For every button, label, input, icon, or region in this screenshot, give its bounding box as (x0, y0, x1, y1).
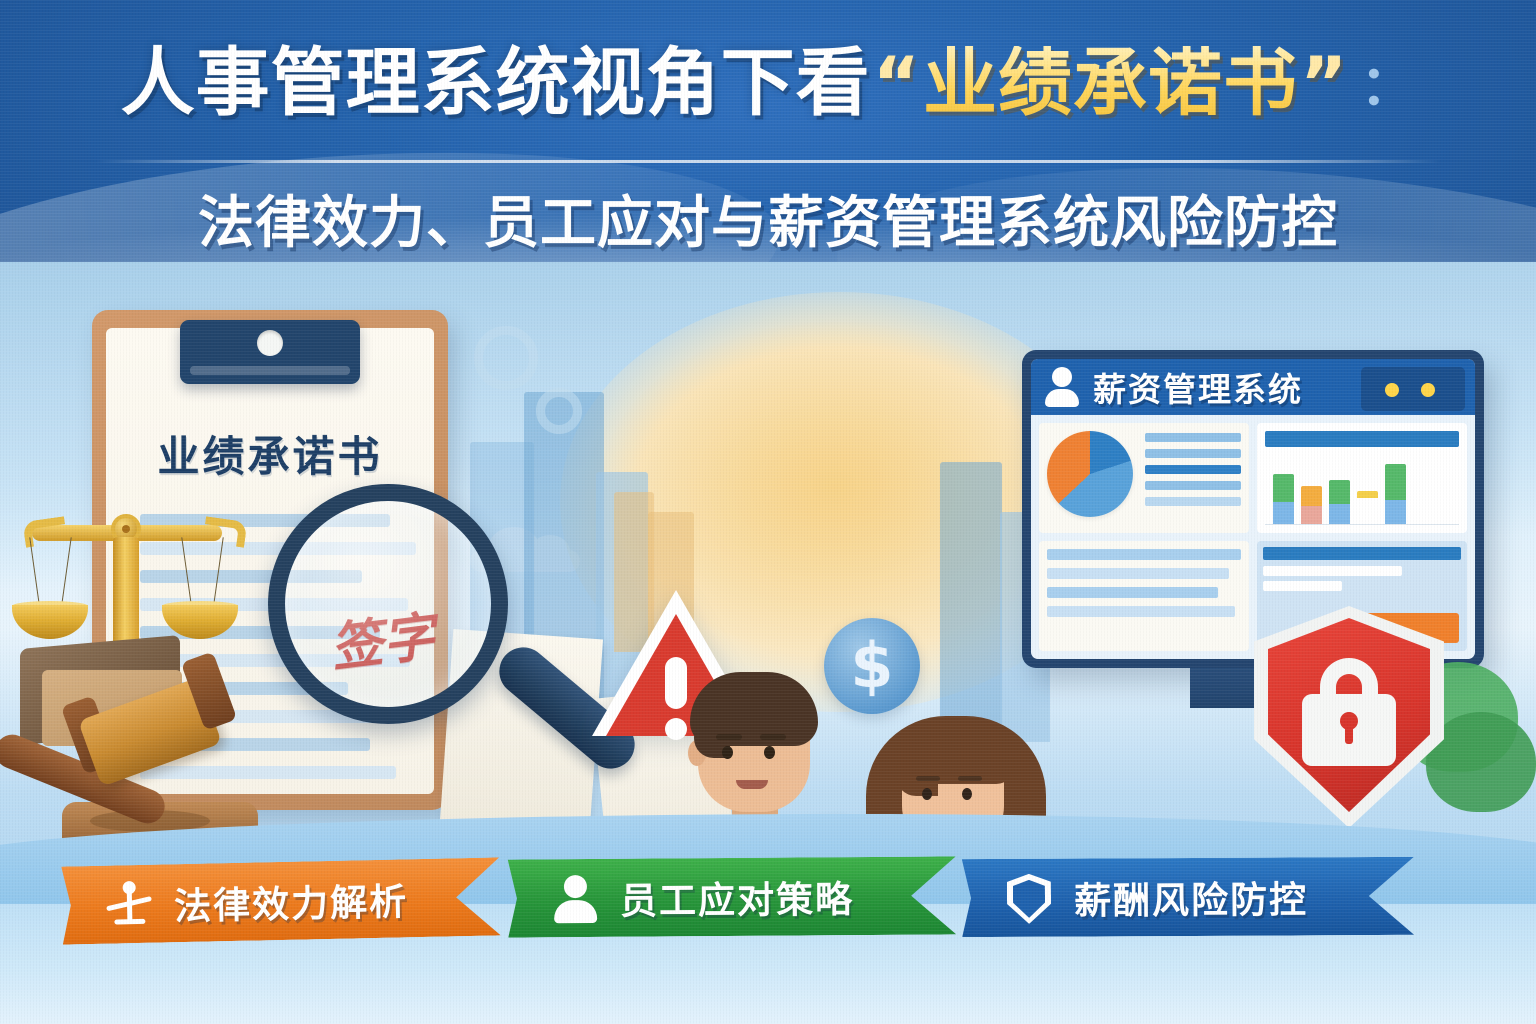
page-title: 人事管理系统视角下看 “ 业绩承诺书 ” ： (0, 46, 1536, 120)
header-banner: 人事管理系统视角下看 “ 业绩承诺书 ” ： 法律效力、员工应对与薪资管理系统风… (0, 0, 1536, 262)
ribbon-legal-analysis[interactable]: 法律效力解析 (61, 857, 501, 944)
bar-segment-growth (1329, 480, 1350, 504)
lock-keyhole (1340, 712, 1358, 730)
window-dot[interactable] (1421, 383, 1435, 397)
poster-root: 人事管理系统视角下看 “ 业绩承诺书 ” ： 法律效力、员工应对与薪资管理系统风… (0, 0, 1536, 1024)
window-controls[interactable] (1361, 367, 1465, 411)
scale-string (61, 537, 71, 604)
man-mouth (736, 780, 768, 789)
monitor-screen: 薪资管理系统 (1031, 359, 1475, 659)
man-eyebrow-left (716, 734, 742, 740)
quote-close: ” (1300, 47, 1348, 119)
bar-segment-alert (1301, 486, 1322, 506)
ribbon-payroll-risk[interactable]: 薪酬风险防控 (962, 857, 1414, 937)
bar-column (1385, 464, 1406, 524)
clip-bar (190, 366, 350, 375)
page-subtitle: 法律效力、员工应对与薪资管理系统风险防控 (0, 178, 1536, 259)
bar-segment-growth (1385, 464, 1406, 500)
legend-row (1145, 449, 1241, 458)
man-eye-left (722, 746, 733, 759)
gear-icon (536, 388, 582, 434)
summary-chip (1263, 581, 1342, 591)
shield-icon (1002, 871, 1056, 925)
clipboard-clip (180, 320, 360, 384)
woman-eyebrow-right (958, 776, 982, 781)
record-list-card (1039, 541, 1249, 651)
bar-segment-base (1301, 506, 1322, 524)
footer-ribbons: 法律效力解析 员工应对策略 薪酬风险防控 (0, 850, 1536, 960)
ribbon-employee-strategy[interactable]: 员工应对策略 (508, 856, 957, 937)
magnifying-glass-icon (268, 484, 508, 724)
bar-chart-card (1257, 423, 1467, 533)
quote-open: “ (873, 47, 921, 119)
ribbon-label: 员工应对策略 (620, 869, 854, 925)
scale-pan-right (162, 605, 238, 639)
woman-eye-left (922, 788, 932, 800)
gear-icon (474, 326, 538, 390)
man-eyebrow-right (760, 734, 786, 740)
scale-pan-left (12, 605, 88, 639)
list-row (1047, 606, 1235, 617)
pie-chart-card (1039, 423, 1249, 533)
bar-segment-base (1385, 500, 1406, 524)
list-row (1047, 549, 1241, 560)
summary-header (1263, 547, 1461, 560)
list-row (1047, 568, 1229, 579)
scale-arm-right (202, 516, 247, 548)
ribbon-label: 法律效力解析 (173, 871, 408, 930)
subtitle-text: 法律效力、员工应对与薪资管理系统风险防控 (198, 191, 1338, 256)
legend-row (1145, 481, 1241, 490)
monitor-titlebar: 薪资管理系统 (1031, 359, 1475, 415)
scale-string (181, 537, 191, 604)
bar-column (1301, 486, 1322, 524)
scales-icon (101, 877, 156, 932)
window-dot[interactable] (1385, 383, 1399, 397)
avatar-head (1052, 367, 1072, 387)
bar-segment-base (1329, 504, 1350, 524)
legend-row (1145, 465, 1241, 474)
pie-legend-rows (1145, 433, 1241, 513)
man-eye-right (764, 746, 775, 759)
list-row (1047, 587, 1218, 598)
scale-string (213, 537, 223, 604)
building-silhouette (940, 462, 1002, 742)
bar-segment-growth (1273, 474, 1294, 502)
title-highlight-text: 业绩承诺书 (923, 46, 1298, 120)
bar-column (1357, 491, 1378, 524)
bar-segment-alert (1357, 491, 1378, 498)
woman-eyebrow-left (916, 776, 940, 781)
bar-segment-base (1273, 502, 1294, 524)
bar-chart-header (1265, 431, 1459, 447)
dashboard-body (1031, 415, 1475, 659)
pie-chart (1047, 431, 1133, 517)
legend-row (1145, 497, 1241, 506)
person-icon (548, 871, 602, 925)
monitor-title: 薪资管理系统 (1093, 363, 1303, 411)
payroll-system-monitor: 薪资管理系统 (1022, 350, 1484, 668)
summary-chip (1263, 566, 1402, 576)
scale-string (29, 537, 39, 604)
title-main-text: 人事管理系统视角下看 (121, 46, 871, 120)
ribbon-label: 薪酬风险防控 (1074, 869, 1308, 924)
user-avatar-icon (1043, 367, 1081, 407)
clip-hole (257, 330, 283, 356)
document-title: 业绩承诺书 (106, 423, 434, 484)
header-divider (96, 160, 1440, 163)
bar-column (1329, 480, 1350, 524)
avatar-body (1045, 389, 1079, 407)
legend-row (1145, 433, 1241, 442)
bar-chart (1265, 453, 1459, 525)
title-colon: ： (1360, 59, 1415, 113)
bar-column (1273, 474, 1294, 524)
woman-eye-right (962, 788, 972, 800)
